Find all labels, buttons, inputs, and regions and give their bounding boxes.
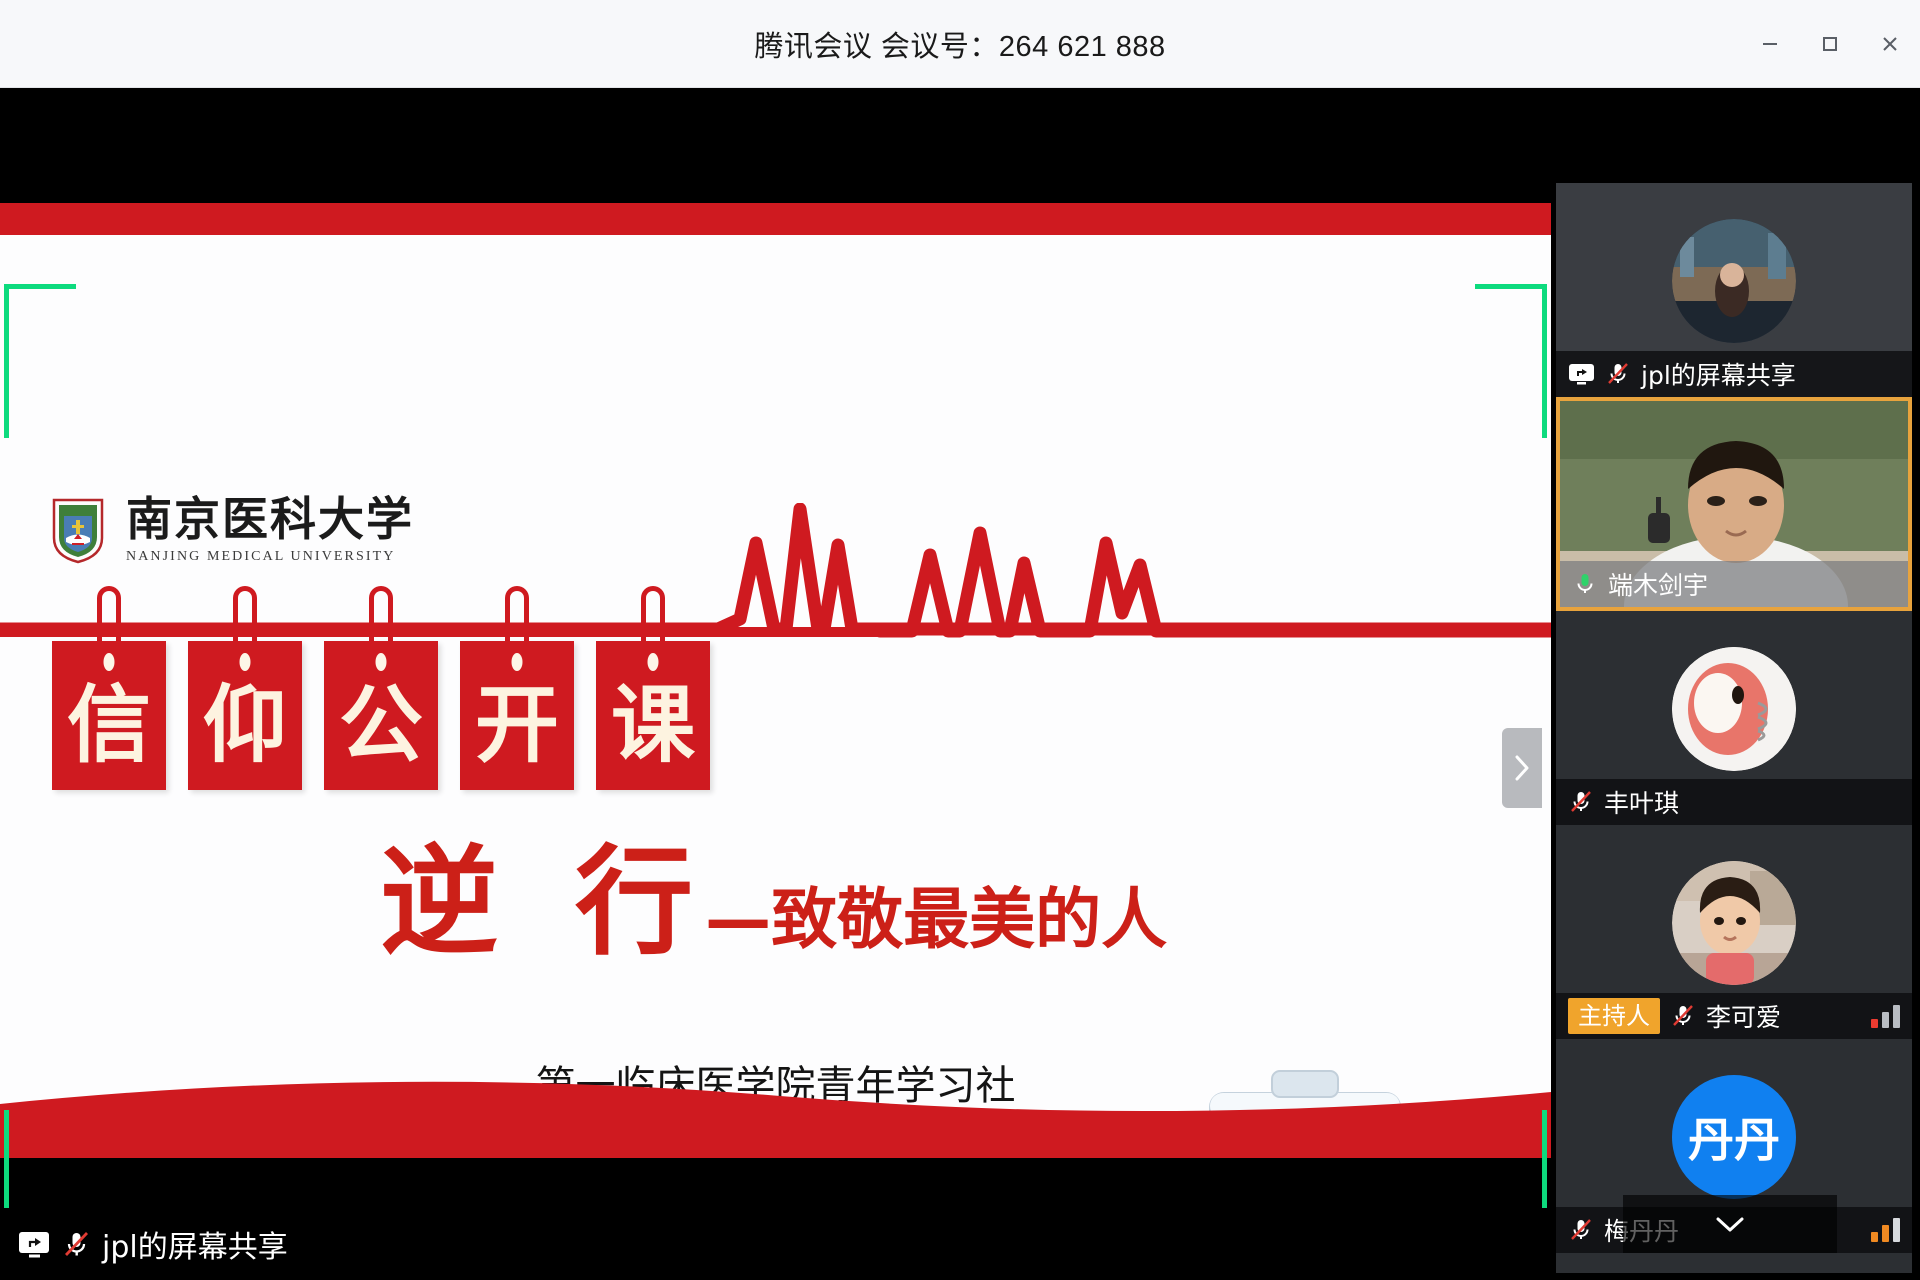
participant-name: 李可爱 bbox=[1706, 998, 1781, 1034]
chevron-down-icon bbox=[1713, 1214, 1747, 1234]
collapse-panel-button[interactable] bbox=[1502, 728, 1542, 808]
meeting-title: 腾讯会议 会议号：264 621 888 bbox=[754, 23, 1165, 65]
slide-bottom-wave bbox=[0, 1070, 1551, 1158]
participant-name: 端木剑宇 bbox=[1608, 566, 1708, 602]
hanging-card: 课 bbox=[596, 641, 710, 790]
card-char: 课 bbox=[611, 683, 695, 767]
participant-tile[interactable]: jpl的屏幕共享 bbox=[1556, 183, 1912, 397]
mic-muted-icon bbox=[61, 1229, 92, 1260]
maximize-icon[interactable] bbox=[1800, 0, 1860, 88]
status-bar-label: jpl的屏幕共享 bbox=[102, 1222, 288, 1266]
meeting-window: 腾讯会议 会议号：264 621 888 bbox=[0, 0, 1920, 1280]
card-dot-icon bbox=[104, 653, 115, 671]
close-icon[interactable] bbox=[1860, 0, 1920, 88]
card-dot-icon bbox=[648, 653, 659, 671]
card-char: 仰 bbox=[203, 683, 287, 767]
tile-name-bar: 主持人 李可爱 bbox=[1556, 993, 1912, 1039]
avatar bbox=[1672, 219, 1796, 343]
mic-muted-icon bbox=[1605, 361, 1631, 387]
status-bar: jpl的屏幕共享 bbox=[0, 1208, 1556, 1280]
participant-name: jpl的屏幕共享 bbox=[1641, 356, 1796, 392]
hanging-card: 开 bbox=[460, 641, 574, 790]
scroll-more-button[interactable] bbox=[1623, 1195, 1837, 1253]
hanging-cards: 信 仰 公 开 bbox=[52, 641, 710, 790]
presentation-slide: 南京医科大学 NANJING MEDICAL UNIVERSITY bbox=[0, 203, 1551, 1158]
tile-name-bar: 丰叶琪 bbox=[1556, 779, 1912, 825]
participant-tile[interactable]: 端木剑宇 bbox=[1556, 397, 1912, 611]
card-dot-icon bbox=[376, 653, 387, 671]
screen-share-icon bbox=[18, 1231, 51, 1258]
card-dot-icon bbox=[512, 653, 523, 671]
host-badge: 主持人 bbox=[1568, 998, 1660, 1034]
tile-name-bar: jpl的屏幕共享 bbox=[1556, 351, 1912, 397]
participant-tile[interactable]: 丰叶琪 bbox=[1556, 611, 1912, 825]
card-dot-icon bbox=[240, 653, 251, 671]
minimize-icon[interactable] bbox=[1740, 0, 1800, 88]
network-signal-icon bbox=[1871, 1004, 1900, 1028]
hanging-card: 公 bbox=[324, 641, 438, 790]
slide-headline: 逆 行 —致敬最美的人 bbox=[380, 843, 1167, 961]
mic-muted-icon bbox=[1670, 1003, 1696, 1029]
participant-tile[interactable]: 主持人 李可爱 bbox=[1556, 825, 1912, 1039]
card-char: 信 bbox=[67, 683, 151, 767]
hanging-card: 信 bbox=[52, 641, 166, 790]
card-char: 开 bbox=[475, 683, 559, 767]
participant-name: 丰叶琪 bbox=[1604, 784, 1679, 820]
shared-screen-region[interactable]: 南京医科大学 NANJING MEDICAL UNIVERSITY bbox=[0, 88, 1551, 1208]
participant-tile[interactable]: 丹丹 梅丹丹 bbox=[1556, 1039, 1912, 1253]
avatar bbox=[1672, 861, 1796, 985]
headline-main: 逆 行 bbox=[380, 843, 711, 961]
title-bar: 腾讯会议 会议号：264 621 888 bbox=[0, 0, 1920, 88]
card-char: 公 bbox=[339, 683, 423, 767]
hanging-card: 仰 bbox=[188, 641, 302, 790]
participant-panel[interactable]: jpl的屏幕共享 bbox=[1556, 183, 1912, 1273]
window-controls bbox=[1740, 0, 1920, 88]
tile-name-bar: 端木剑宇 bbox=[1560, 561, 1908, 607]
screen-share-icon bbox=[1568, 363, 1595, 385]
mic-active-icon bbox=[1572, 571, 1598, 597]
network-signal-icon bbox=[1871, 1218, 1900, 1242]
meeting-stage: 南京医科大学 NANJING MEDICAL UNIVERSITY bbox=[0, 88, 1920, 1280]
mic-muted-icon bbox=[1568, 789, 1594, 815]
slide-top-bar bbox=[0, 203, 1551, 235]
avatar bbox=[1672, 647, 1796, 771]
mic-muted-icon bbox=[1568, 1217, 1594, 1243]
headline-sub: —致敬最美的人 bbox=[705, 887, 1167, 953]
chevron-right-icon bbox=[1511, 750, 1533, 786]
avatar-initials: 丹丹 bbox=[1672, 1075, 1796, 1199]
